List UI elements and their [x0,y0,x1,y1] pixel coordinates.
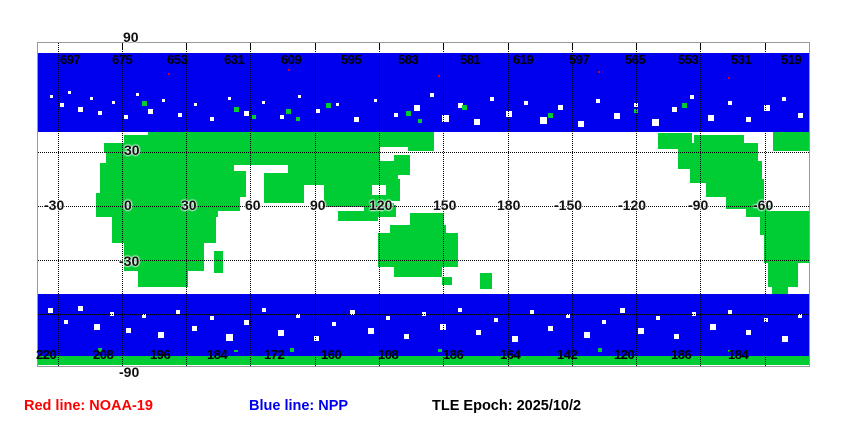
gridline-lat [38,152,809,153]
track-crossing-dot [94,324,100,330]
land-south-america-m [764,233,809,263]
track-crossing-dot [708,115,714,121]
track-crossing-dot [638,328,644,334]
top-tick-label: 531 [731,52,751,67]
land-south-america-n [760,211,809,235]
legend-noaa19: Red line: NOAA-19 [24,398,153,414]
track-overlap-marker [418,119,422,123]
track-crossing-dot [48,308,53,313]
track-overlap-marker [326,103,331,108]
bottom-tick-label: 120 [614,347,634,362]
track-crossing-dot [512,336,518,342]
track-overlap-marker [286,109,291,114]
track-crossing-dot [244,111,249,116]
lon-label-9: -120 [618,197,646,213]
track-crossing-dot [280,115,284,119]
track-crossing-dot [124,115,128,119]
land-new-guinea [410,213,444,225]
top-tick-label: 21 [822,52,835,67]
track-crossing-dot [602,320,606,324]
land-west-africa [96,193,218,217]
track-crossing-dot [50,95,53,98]
bottom-tick-label: 22 [820,347,833,362]
top-tick-label: 583 [398,52,418,67]
track-crossing-dot [614,113,620,119]
lon-label-4: 90 [310,197,326,213]
land-south-africa-tip [138,271,188,287]
track-crossing-dot [476,330,481,335]
track-overlap-marker [548,113,553,118]
lat-label-m90: -90 [119,364,139,380]
track-crossing-dot [278,330,284,336]
track-crossing-dot [394,113,398,117]
lon-label-11: -60 [753,197,773,213]
track-overlap-marker [234,107,239,112]
track-crossing-dot [336,103,339,106]
tick-top [250,43,251,49]
tick-top [700,43,701,49]
tick-top [186,43,187,49]
lon-label-7: 180 [497,197,520,213]
top-tick-label: 553 [678,52,698,67]
bottom-tick-label: 164 [500,347,520,362]
noaa19-track-pixel [438,75,440,77]
legend-tle-epoch: TLE Epoch: 2025/10/2 [432,398,581,414]
track-crossing-dot [262,308,266,312]
bottom-tick-label: 160 [321,347,341,362]
track-overlap-marker [462,105,467,110]
noaa19-track-pixel [168,73,170,75]
track-crossing-dot [656,316,660,320]
top-tick-label: 519 [781,52,801,67]
top-tick-label: 595 [341,52,361,67]
land-greenland [773,131,809,151]
track-crossing-dot [540,117,547,124]
noaa19-track-pixel [288,69,290,71]
track-crossing-dot [746,330,751,335]
top-tick-label: 581 [460,52,480,67]
top-tick-label: 675 [112,52,132,67]
track-crossing-dot [228,97,231,100]
track-crossing-dot [148,109,153,114]
lat-label-90: 90 [123,29,139,45]
lon-label-2: 30 [181,197,197,213]
track-crossing-dot [524,101,528,105]
tick-top [508,43,509,49]
lon-label-10: -90 [688,197,708,213]
bottom-tick-label: 184 [728,347,748,362]
land-madagascar [214,251,223,273]
track-crossing-dot [746,117,751,122]
track-overlap-marker [296,117,300,121]
track-crossing-dot [126,328,131,333]
track-crossing-dot [386,316,390,320]
track-crossing-dot [782,336,788,342]
track-crossing-dot [558,105,563,110]
land-new-zealand [480,273,492,289]
tick-top [765,43,766,49]
track-crossing-dot [490,97,494,101]
track-crossing-dot [194,103,197,106]
track-crossing-dot [578,121,584,127]
track-crossing-dot [798,113,803,118]
land-arabia [206,171,246,197]
track-crossing-dot [210,316,214,320]
track-crossing-dot [178,113,182,117]
track-crossing-dot [158,332,164,338]
top-tick-label: 565 [625,52,645,67]
track-overlap-marker [406,111,411,116]
track-crossing-dot [316,109,320,113]
track-crossing-dot [690,95,694,99]
legend-npp: Blue line: NPP [249,398,348,414]
track-crossing-dot [620,308,625,313]
noaa19-track-pixel [728,77,730,79]
bottom-tick-label: 186 [671,347,691,362]
gridline-lat [38,260,809,261]
tick-top [572,43,573,49]
track-crossing-dot [90,97,93,100]
bottom-tick-label: 184 [207,347,227,362]
track-crossing-dot [430,93,434,97]
bottom-tick-label: 142 [557,347,577,362]
bottom-tick-label: 196 [150,347,170,362]
lon-label-1: 0 [124,197,132,213]
track-crossing-dot [68,91,71,94]
track-crossing-dot [64,320,68,324]
top-tick-label: 609 [281,52,301,67]
gridline-lat [38,314,809,315]
bottom-tick-label: 208 [93,347,113,362]
track-crossing-dot [596,99,600,103]
bottom-tick-label: 172 [264,347,284,362]
track-crossing-dot [494,318,498,322]
lat-label-m30: -30 [119,253,139,269]
track-crossing-dot [710,324,716,330]
top-tick-label: 619 [513,52,533,67]
track-overlap-marker [252,115,256,119]
track-crossing-dot [98,111,102,115]
tick-top [315,43,316,49]
noaa19-track-pixel [598,71,600,73]
track-crossing-dot [226,334,233,341]
track-crossing-dot [262,101,265,104]
gridline-lon [122,43,123,366]
track-crossing-dot [162,99,165,102]
top-tick-label: 631 [224,52,244,67]
track-crossing-dot [192,326,197,331]
track-crossing-dot [548,326,553,331]
track-crossing-dot [414,105,420,111]
land-kamchatka [408,129,434,151]
track-crossing-dot [404,334,409,339]
top-tick-label: 697 [60,52,80,67]
land-australia-n [390,225,446,235]
track-crossing-dot [584,332,590,338]
lon-label-8: -150 [554,197,582,213]
tick-top [379,43,380,49]
land-alaska [658,133,692,149]
track-crossing-dot [474,119,480,125]
track-crossing-dot [210,117,214,121]
tick-top [443,43,444,49]
track-crossing-dot [354,117,359,122]
land-south-america-s [768,261,798,287]
top-tick-label: 597 [569,52,589,67]
bottom-tick-label: 186 [443,347,463,362]
land-australia-s [394,265,442,277]
track-crossing-dot [672,107,677,112]
track-crossing-dot [506,111,512,117]
track-crossing-dot [674,334,679,339]
track-overlap-marker [682,103,687,108]
figure-canvas: 90 30 -30 -90 -30 0 30 60 90 120 150 180… [0,0,850,425]
land-japan [394,155,410,175]
lat-label-30: 30 [124,142,140,158]
track-crossing-dot [332,322,336,326]
lon-label-0: -30 [44,197,64,213]
lon-label-5: 120 [369,197,392,213]
track-crossing-dot [652,119,659,126]
track-crossing-dot [458,308,462,312]
legend-row: Red line: NOAA-19 Blue line: NPP TLE Epo… [0,396,850,420]
lon-label-3: 60 [245,197,261,213]
track-crossing-dot [782,97,786,101]
top-tick-label: 653 [167,52,187,67]
track-crossing-dot [728,101,732,105]
track-overlap-marker [142,101,147,106]
track-crossing-dot [368,328,374,334]
bottom-tick-label: 220 [36,347,56,362]
track-crossing-dot [136,93,139,96]
tick-top [636,43,637,49]
land-australia [378,233,458,267]
track-crossing-dot [112,101,115,104]
land-india [264,173,304,203]
land-central-africa [112,217,216,243]
lon-label-6: 150 [433,197,456,213]
track-crossing-dot [78,107,83,112]
track-crossing-dot [78,306,83,311]
track-crossing-dot [60,103,64,107]
track-crossing-dot [244,320,249,325]
land-china [288,161,398,185]
track-crossing-dot [298,95,301,98]
track-crossing-dot [374,99,377,102]
bottom-tick-label: 108 [378,347,398,362]
